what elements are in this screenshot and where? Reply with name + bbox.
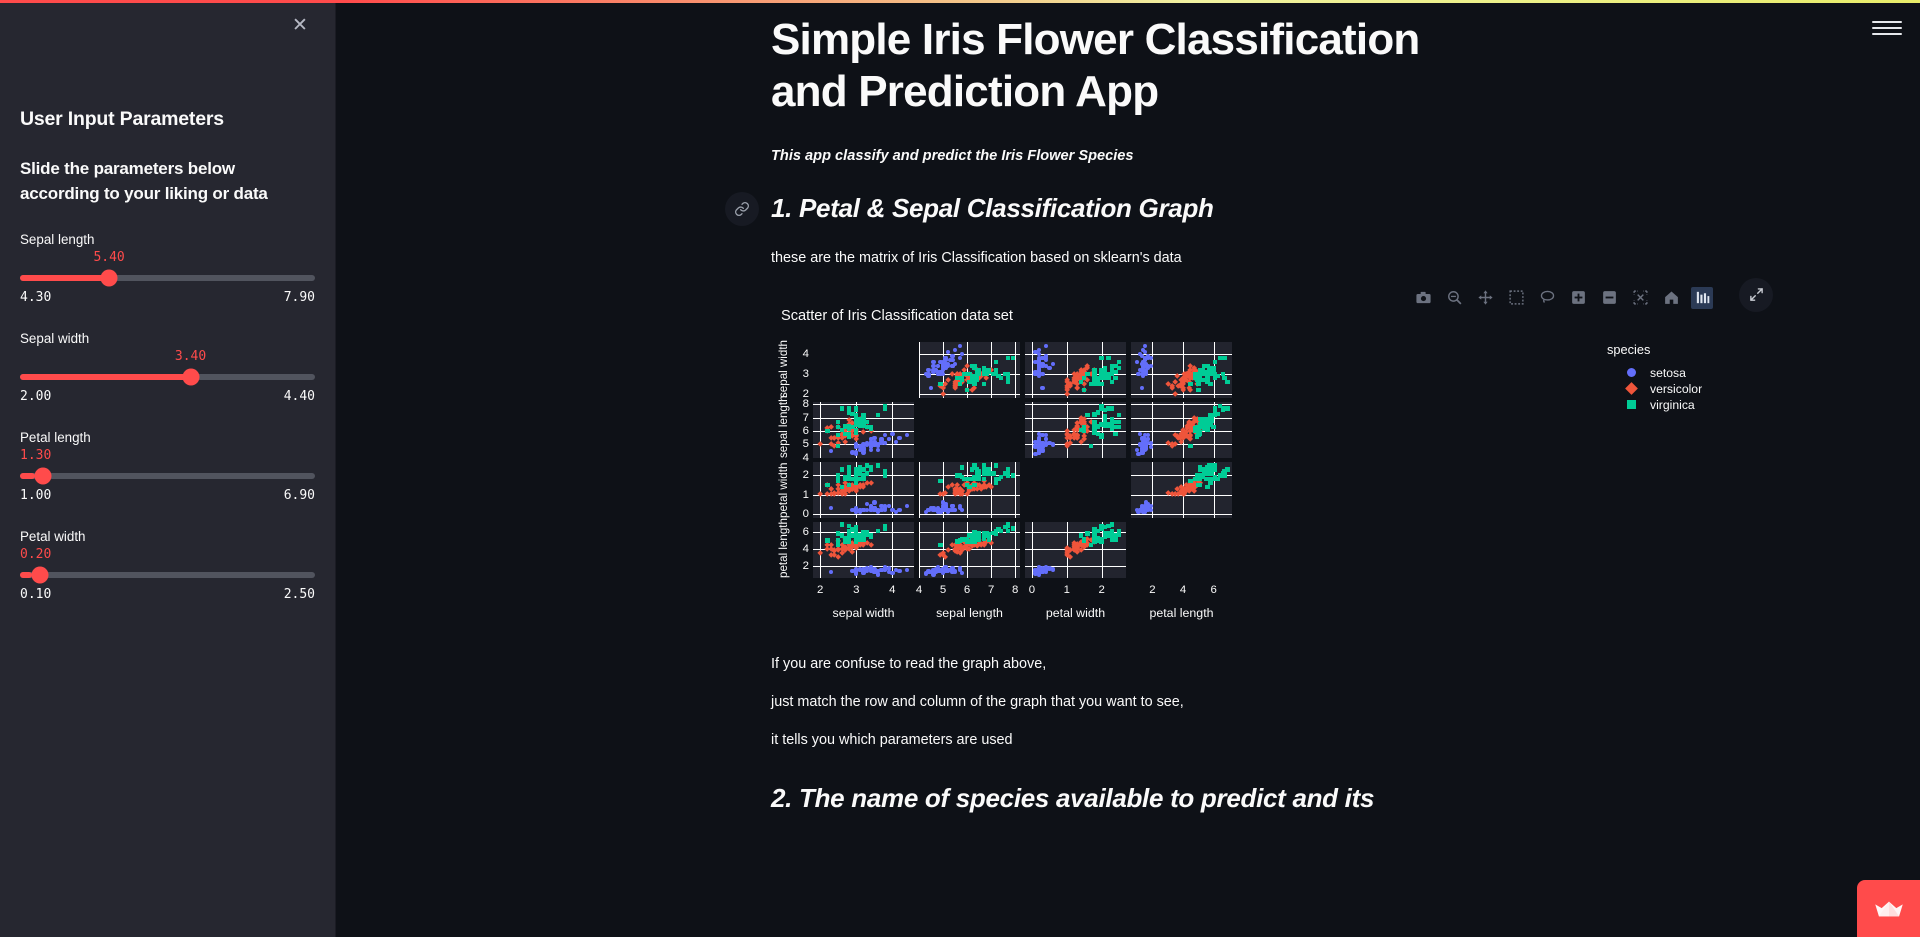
data-point — [825, 429, 829, 433]
slider-fill — [20, 572, 32, 578]
data-point — [994, 531, 998, 535]
y-tick-label: 0 — [789, 508, 809, 520]
slider-petal-width[interactable]: Petal width0.200.102.50 — [20, 529, 315, 602]
data-point — [817, 492, 823, 498]
slider-fill — [20, 374, 192, 380]
data-point — [854, 477, 858, 481]
data-point — [894, 440, 898, 444]
data-point — [847, 410, 851, 414]
gridline-vertical — [820, 402, 821, 458]
data-point — [972, 376, 976, 380]
data-point — [965, 388, 969, 392]
data-point — [836, 543, 840, 547]
data-point — [982, 467, 986, 471]
slider-track[interactable] — [20, 374, 315, 380]
slider-max: 2.50 — [284, 587, 315, 602]
data-point — [1011, 356, 1015, 360]
data-point — [872, 567, 876, 571]
legend-item-virginica[interactable]: virginica — [1607, 397, 1737, 413]
explain-line-3: it tells you which parameters are used — [771, 732, 1871, 748]
slider-current-value: 0.20 — [20, 547, 51, 562]
scatter-cell-r2-c3[interactable] — [1131, 462, 1232, 518]
data-point — [1210, 467, 1214, 471]
link-icon[interactable] — [725, 192, 759, 226]
scatter-cell-r2-c1[interactable] — [919, 462, 1020, 518]
scatter-matrix-plot: Scatter of Iris Classification data set … — [771, 284, 1721, 634]
slider-value-row: 3.40 — [20, 349, 315, 368]
data-point — [1202, 467, 1206, 471]
plot-title: Scatter of Iris Classification data set — [781, 308, 1013, 324]
y-tick-label: 4 — [789, 543, 809, 555]
app-root: ✕ User Input Parameters Slide the parame… — [0, 0, 1920, 937]
x-tick-label: 1 — [1064, 584, 1070, 596]
gridline-vertical — [1152, 402, 1153, 458]
slider-label: Petal width — [20, 529, 315, 544]
slider-label: Petal length — [20, 430, 315, 445]
data-point — [1113, 432, 1117, 436]
data-point — [1117, 532, 1121, 536]
x-tick-label: 4 — [889, 584, 895, 596]
data-point — [854, 430, 858, 434]
slider-label: Sepal length — [20, 232, 315, 247]
data-point — [861, 448, 865, 452]
data-point — [970, 467, 974, 471]
scatter-cell-r2-c0[interactable] — [813, 462, 914, 518]
data-point — [1096, 410, 1100, 414]
autoscale-icon[interactable] — [1629, 287, 1651, 309]
data-point — [1117, 366, 1121, 370]
section-1-heading: 1. Petal & Sepal Classification Graph — [771, 193, 1214, 224]
data-point — [883, 526, 887, 530]
main-content: Simple Iris Flower Classification and Pr… — [336, 0, 1920, 937]
data-point — [926, 570, 930, 574]
data-point — [1110, 380, 1114, 384]
slider-petal-length[interactable]: Petal length1.301.006.90 — [20, 430, 315, 503]
data-point — [972, 483, 976, 487]
legend-title: species — [1607, 342, 1737, 357]
data-point — [865, 442, 869, 446]
x-axis-label: sepal width — [833, 606, 895, 620]
zoom-out-icon[interactable] — [1598, 287, 1620, 309]
data-point — [1006, 529, 1010, 533]
x-tick-label: 0 — [1029, 584, 1035, 596]
gridline-horizontal — [813, 514, 914, 515]
data-point — [1082, 537, 1086, 541]
data-point — [836, 538, 840, 542]
chart-legend: species setosaversicolorvirginica — [1607, 342, 1737, 413]
data-point — [958, 382, 962, 386]
data-point — [962, 477, 966, 481]
data-point — [958, 344, 962, 348]
data-point — [876, 463, 880, 467]
data-point — [1198, 477, 1202, 481]
zoom-in-icon[interactable] — [1567, 287, 1589, 309]
data-point — [1213, 410, 1217, 414]
data-point — [1205, 485, 1209, 489]
x-tick-label: 8 — [1012, 584, 1018, 596]
data-point — [972, 382, 976, 386]
slider-min: 2.00 — [20, 389, 51, 404]
data-point — [938, 479, 942, 483]
slider-current-value: 1.30 — [20, 448, 51, 463]
data-point — [1110, 522, 1114, 526]
data-point — [1085, 413, 1089, 417]
data-point — [1140, 386, 1144, 390]
slider-range: 1.006.90 — [20, 488, 315, 503]
data-point — [840, 406, 844, 410]
explain-line-2: just match the row and column of the gra… — [771, 694, 1871, 710]
data-point — [879, 438, 883, 442]
data-point — [1040, 372, 1044, 376]
data-point — [982, 471, 986, 475]
x-tick-label: 6 — [964, 584, 970, 596]
data-point — [977, 473, 981, 477]
section-2-heading: 2. The name of species available to pred… — [771, 782, 1871, 816]
data-point — [1198, 372, 1202, 376]
data-point — [836, 420, 840, 424]
scatter-cell-r3-c0[interactable] — [813, 522, 914, 578]
toggle-spike-lines-icon[interactable] — [1691, 287, 1713, 309]
data-point — [929, 386, 933, 390]
data-point — [962, 372, 966, 376]
x-tick-label: 3 — [853, 584, 859, 596]
data-point — [982, 382, 986, 386]
y-tick-label: 2 — [789, 560, 809, 572]
data-point — [905, 433, 909, 437]
data-point — [1110, 535, 1114, 539]
data-point — [1117, 420, 1121, 424]
slider-thumb[interactable] — [101, 270, 118, 287]
data-point — [1110, 364, 1114, 368]
data-point — [1037, 448, 1041, 452]
data-point — [869, 467, 873, 471]
gridline-vertical — [892, 402, 893, 458]
x-tick-label: 5 — [940, 584, 946, 596]
sidebar-title: User Input Parameters — [20, 108, 315, 131]
explain-line-1: If you are confuse to read the graph abo… — [771, 656, 1871, 672]
y-tick-label: 6 — [789, 526, 809, 538]
data-point — [946, 350, 950, 354]
x-axis-label: petal length — [1149, 606, 1213, 620]
data-point — [836, 475, 840, 479]
data-point — [931, 368, 935, 372]
legend-marker — [1627, 400, 1636, 409]
data-point — [887, 437, 891, 441]
data-point — [1149, 364, 1153, 368]
data-point — [1202, 426, 1206, 430]
data-point — [987, 471, 991, 475]
data-point — [1106, 376, 1110, 380]
data-point — [861, 467, 865, 471]
data-point — [1006, 473, 1010, 477]
data-point — [1218, 404, 1222, 408]
close-icon[interactable]: ✕ — [287, 13, 313, 39]
data-point — [1196, 388, 1200, 392]
data-point — [1040, 362, 1044, 366]
data-point — [865, 508, 869, 512]
slider-min: 4.30 — [20, 290, 51, 305]
y-tick-label: 2 — [789, 469, 809, 481]
slider-thumb[interactable] — [32, 567, 49, 584]
data-point — [1110, 426, 1114, 430]
data-point — [943, 356, 947, 360]
data-point — [1198, 430, 1202, 434]
slider-min: 1.00 — [20, 488, 51, 503]
scatter-cell-r3-c1[interactable] — [919, 522, 1020, 578]
zoom-icon[interactable] — [1443, 287, 1465, 309]
legend-item-versicolor[interactable]: versicolor — [1607, 381, 1737, 397]
data-point — [977, 372, 981, 376]
sidebar: ✕ User Input Parameters Slide the parame… — [0, 0, 336, 937]
slider-sepal-length[interactable]: Sepal length5.404.307.90 — [20, 232, 315, 305]
data-point — [854, 481, 858, 485]
x-axis-label: petal width — [1046, 606, 1105, 620]
slider-range: 4.307.90 — [20, 290, 315, 305]
data-point — [1044, 356, 1048, 360]
data-point — [1051, 362, 1055, 366]
data-point — [865, 569, 869, 573]
data-point — [847, 469, 851, 473]
data-point — [1089, 444, 1093, 448]
hamburger-menu-icon[interactable] — [1872, 13, 1902, 43]
gridline-horizontal — [813, 404, 914, 405]
data-point — [1196, 382, 1200, 386]
sidebar-sliders: Sepal length5.404.307.90Sepal width3.402… — [20, 232, 315, 602]
legend-label: setosa — [1650, 366, 1686, 380]
data-point — [1204, 477, 1208, 481]
scatter-cell-r0-c3[interactable] — [1131, 342, 1232, 398]
page-title: Simple Iris Flower Classification and Pr… — [771, 14, 1491, 118]
data-point — [982, 477, 986, 481]
data-point — [868, 480, 874, 486]
data-point — [999, 376, 1003, 380]
data-point — [953, 508, 957, 512]
data-point — [905, 568, 909, 572]
scatter-cell-r1-c0[interactable] — [813, 402, 914, 458]
plotly-modebar — [1412, 284, 1713, 312]
data-point — [825, 538, 829, 542]
data-point — [994, 360, 998, 364]
data-point — [1006, 372, 1010, 376]
data-point — [897, 436, 901, 440]
data-point — [938, 543, 942, 547]
download-plot-as-png-icon[interactable] — [1412, 287, 1434, 309]
data-point — [1213, 376, 1217, 380]
data-point — [1143, 358, 1147, 362]
slider-thumb[interactable] — [182, 369, 199, 386]
scatter-cell-r1-c2[interactable] — [1025, 402, 1126, 458]
data-point — [958, 356, 962, 360]
x-tick-label: 2 — [1149, 584, 1155, 596]
gridline-horizontal — [1131, 394, 1232, 395]
slider-value-row: 0.20 — [20, 547, 315, 566]
data-point — [905, 504, 909, 508]
gridline-horizontal — [1025, 394, 1126, 395]
data-point — [955, 473, 959, 477]
data-point — [876, 529, 880, 533]
section-1-heading-row: 1. Petal & Sepal Classification Graph — [771, 192, 1871, 226]
y-tick-label: 4 — [789, 348, 809, 360]
data-point — [865, 420, 869, 424]
data-point — [887, 570, 891, 574]
slider-current-value: 3.40 — [175, 349, 206, 364]
slider-track[interactable] — [20, 473, 315, 479]
data-point — [890, 432, 894, 436]
data-point — [1099, 422, 1103, 426]
data-point — [938, 382, 942, 386]
data-point — [872, 506, 876, 510]
data-point — [1110, 372, 1114, 376]
section-1-description: these are the matrix of Iris Classificat… — [771, 250, 1871, 266]
data-point — [1172, 391, 1178, 397]
data-point — [1037, 358, 1041, 362]
scatter-cell-r1-c3[interactable] — [1131, 402, 1232, 458]
data-point — [854, 467, 858, 471]
data-point — [847, 524, 851, 528]
data-point — [970, 364, 974, 368]
slider-label: Sepal width — [20, 331, 315, 346]
x-tick-label: 2 — [817, 584, 823, 596]
data-point — [1006, 380, 1010, 384]
data-point — [1198, 483, 1202, 487]
slider-max: 4.40 — [284, 389, 315, 404]
data-point — [972, 475, 976, 479]
data-point — [836, 433, 840, 437]
data-point — [836, 425, 840, 429]
data-point — [869, 426, 873, 430]
data-point — [982, 537, 986, 541]
data-point — [1092, 537, 1096, 541]
data-point — [1135, 360, 1139, 364]
data-point — [843, 432, 847, 436]
data-point — [1079, 428, 1083, 432]
streamlit-crown-icon[interactable] — [1857, 880, 1920, 937]
data-point — [1222, 376, 1226, 380]
scatter-plot-matrix[interactable]: sepal widthsepal lengthpetal widthpetal … — [771, 342, 1671, 634]
data-point — [872, 500, 876, 504]
data-point — [1218, 473, 1222, 477]
data-point — [1099, 526, 1103, 530]
data-point — [869, 535, 873, 539]
data-point — [872, 442, 876, 446]
legend-label: virginica — [1650, 398, 1695, 412]
data-point — [999, 529, 1003, 533]
data-point — [1207, 463, 1211, 467]
data-point — [1149, 356, 1153, 360]
data-point — [1103, 417, 1107, 421]
data-point — [1218, 356, 1222, 360]
data-point — [1044, 344, 1048, 348]
data-point — [1225, 380, 1229, 384]
data-point — [1202, 364, 1206, 368]
slider-fill — [20, 473, 35, 479]
scatter-cell-r0-c2[interactable] — [1025, 342, 1126, 398]
x-tick-label: 7 — [988, 584, 994, 596]
data-point — [865, 471, 869, 475]
slider-range: 0.102.50 — [20, 587, 315, 602]
data-point — [1092, 430, 1096, 434]
reset-axes-icon[interactable] — [1660, 287, 1682, 309]
data-point — [1085, 531, 1089, 535]
slider-range: 2.004.40 — [20, 389, 315, 404]
data-point — [958, 566, 962, 570]
x-tick-label: 4 — [1180, 584, 1186, 596]
slider-track[interactable] — [20, 275, 315, 281]
slider-track[interactable] — [20, 572, 315, 578]
crown-shape — [1874, 898, 1904, 920]
data-point — [1040, 386, 1044, 390]
data-point — [1006, 376, 1010, 380]
data-point — [1213, 360, 1217, 364]
data-point — [883, 404, 887, 408]
data-point — [879, 508, 883, 512]
data-point — [1222, 406, 1226, 410]
gridline-vertical — [1015, 342, 1016, 398]
data-point — [897, 508, 901, 512]
data-point — [840, 467, 844, 471]
data-point — [1011, 473, 1015, 477]
gridline-vertical — [1152, 342, 1153, 398]
data-point — [950, 354, 954, 358]
data-point — [967, 485, 971, 489]
data-point — [1110, 406, 1114, 410]
y-tick-label: 4 — [789, 452, 809, 464]
y-tick-label: 7 — [789, 412, 809, 424]
y-tick-label: 8 — [789, 398, 809, 410]
y-tick-label: 1 — [789, 489, 809, 501]
data-point — [817, 550, 823, 556]
data-point — [960, 465, 964, 469]
data-point — [1117, 413, 1121, 417]
data-point — [1099, 537, 1103, 541]
data-point — [876, 413, 880, 417]
data-point — [940, 391, 946, 397]
gridline-horizontal — [1131, 514, 1232, 515]
data-point — [1099, 404, 1103, 408]
data-point — [982, 366, 986, 370]
gridline-vertical — [820, 462, 821, 518]
data-point — [1213, 372, 1217, 376]
legend-item-setosa[interactable]: setosa — [1607, 365, 1737, 381]
fullscreen-expand-icon[interactable] — [1739, 278, 1773, 312]
data-point — [994, 463, 998, 467]
pan-icon[interactable] — [1474, 287, 1496, 309]
data-point — [1051, 567, 1055, 571]
slider-thumb[interactable] — [34, 468, 51, 485]
data-point — [843, 475, 847, 479]
scatter-cell-r0-c1[interactable] — [919, 342, 1020, 398]
lasso-select-icon[interactable] — [1536, 287, 1558, 309]
legend-marker — [1627, 368, 1636, 377]
data-point — [1207, 420, 1211, 424]
data-point — [931, 569, 935, 573]
box-select-icon[interactable] — [1505, 287, 1527, 309]
page-subtitle: This app classify and predict the Iris F… — [771, 148, 1871, 164]
gridline-vertical — [919, 342, 920, 398]
data-point — [1222, 473, 1226, 477]
slider-max: 6.90 — [284, 488, 315, 503]
data-point — [931, 508, 935, 512]
data-point — [840, 522, 844, 526]
data-point — [1037, 348, 1041, 352]
scatter-cell-r3-c2[interactable] — [1025, 522, 1126, 578]
sidebar-subtitle: Slide the parameters below according to … — [20, 157, 315, 206]
slider-sepal-width[interactable]: Sepal width3.402.004.40 — [20, 331, 315, 404]
x-tick-label: 2 — [1098, 584, 1104, 596]
legend-label: versicolor — [1650, 382, 1702, 396]
data-point — [854, 406, 858, 410]
data-point — [994, 481, 998, 485]
